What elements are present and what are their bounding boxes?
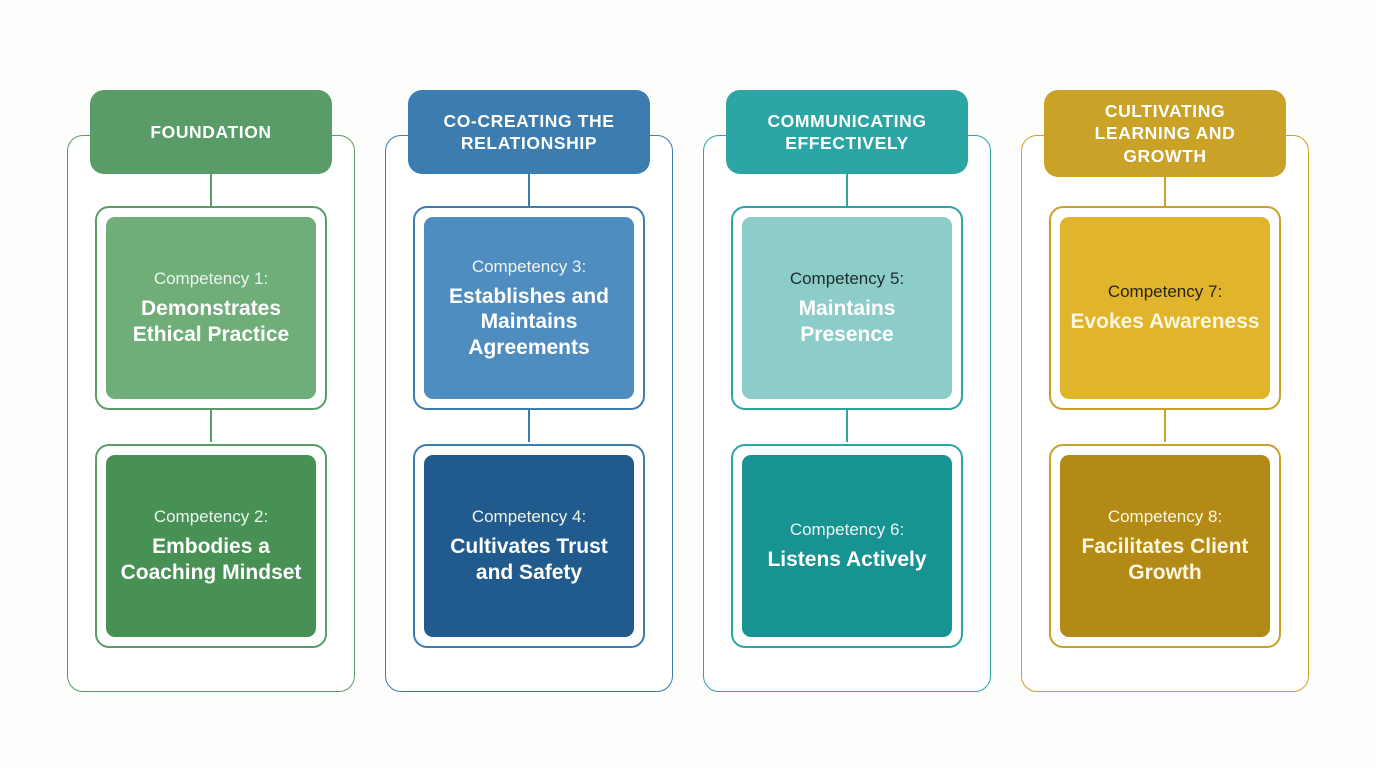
column-header-co-creating-the-relationship[interactable]: CO-CREATING THE RELATIONSHIP	[408, 90, 650, 174]
competency-card[interactable]: Competency 1:Demonstrates Ethical Practi…	[106, 217, 316, 399]
connector-line-card-1-to-card-2	[846, 408, 848, 442]
competency-card[interactable]: Competency 7:Evokes Awareness	[1060, 217, 1270, 399]
competency-card-wrapper: Competency 4:Cultivates Trust and Safety	[413, 444, 645, 648]
competency-number-label: Competency 6:	[790, 519, 904, 541]
competency-title: Facilitates Client Growth	[1070, 534, 1260, 585]
competency-card-wrapper: Competency 7:Evokes Awareness	[1049, 206, 1281, 410]
connector-line-header-to-card-1	[528, 174, 530, 206]
competency-card[interactable]: Competency 3:Establishes and Maintains A…	[424, 217, 634, 399]
competency-number-label: Competency 4:	[472, 506, 586, 528]
competency-title: Listens Actively	[767, 547, 926, 573]
competency-title: Evokes Awareness	[1070, 309, 1259, 335]
competency-column-cultivating-learning-and-growth: CULTIVATING LEARNING AND GROWTHCompetenc…	[1021, 135, 1309, 692]
column-header-cultivating-learning-and-growth[interactable]: CULTIVATING LEARNING AND GROWTH	[1044, 90, 1286, 177]
competency-card-wrapper: Competency 6:Listens Actively	[731, 444, 963, 648]
competency-number-label: Competency 5:	[790, 268, 904, 290]
competency-card[interactable]: Competency 2:Embodies a Coaching Mindset	[106, 455, 316, 637]
competency-number-label: Competency 8:	[1108, 506, 1222, 528]
connector-line-header-to-card-1	[210, 174, 212, 206]
competency-card[interactable]: Competency 5:Maintains Presence	[742, 217, 952, 399]
connector-line-header-to-card-1	[1164, 174, 1166, 206]
competency-card[interactable]: Competency 6:Listens Actively	[742, 455, 952, 637]
competency-title: Maintains Presence	[752, 296, 942, 347]
competency-column-co-creating-the-relationship: CO-CREATING THE RELATIONSHIPCompetency 3…	[385, 135, 673, 692]
connector-line-header-to-card-1	[846, 174, 848, 206]
competency-column-foundation: FOUNDATIONCompetency 1:Demonstrates Ethi…	[67, 135, 355, 692]
connector-line-card-1-to-card-2	[528, 408, 530, 442]
competency-columns: FOUNDATIONCompetency 1:Demonstrates Ethi…	[0, 0, 1376, 768]
competency-title: Demonstrates Ethical Practice	[116, 296, 306, 347]
competency-title: Establishes and Maintains Agreements	[434, 284, 624, 361]
connector-line-card-1-to-card-2	[1164, 408, 1166, 442]
competency-number-label: Competency 3:	[472, 256, 586, 278]
competency-card[interactable]: Competency 4:Cultivates Trust and Safety	[424, 455, 634, 637]
competency-number-label: Competency 1:	[154, 268, 268, 290]
competency-title: Cultivates Trust and Safety	[434, 534, 624, 585]
competency-card-wrapper: Competency 2:Embodies a Coaching Mindset	[95, 444, 327, 648]
competency-column-communicating-effectively: COMMUNICATING EFFECTIVELYCompetency 5:Ma…	[703, 135, 991, 692]
competency-card-wrapper: Competency 5:Maintains Presence	[731, 206, 963, 410]
connector-line-card-1-to-card-2	[210, 408, 212, 442]
competency-number-label: Competency 2:	[154, 506, 268, 528]
competency-card-wrapper: Competency 3:Establishes and Maintains A…	[413, 206, 645, 410]
competency-number-label: Competency 7:	[1108, 281, 1222, 303]
competency-card[interactable]: Competency 8:Facilitates Client Growth	[1060, 455, 1270, 637]
competency-card-wrapper: Competency 1:Demonstrates Ethical Practi…	[95, 206, 327, 410]
competency-card-wrapper: Competency 8:Facilitates Client Growth	[1049, 444, 1281, 648]
column-header-communicating-effectively[interactable]: COMMUNICATING EFFECTIVELY	[726, 90, 968, 174]
competency-title: Embodies a Coaching Mindset	[116, 534, 306, 585]
competency-model-diagram: FOUNDATIONCompetency 1:Demonstrates Ethi…	[0, 0, 1376, 768]
column-header-foundation[interactable]: FOUNDATION	[90, 90, 332, 174]
